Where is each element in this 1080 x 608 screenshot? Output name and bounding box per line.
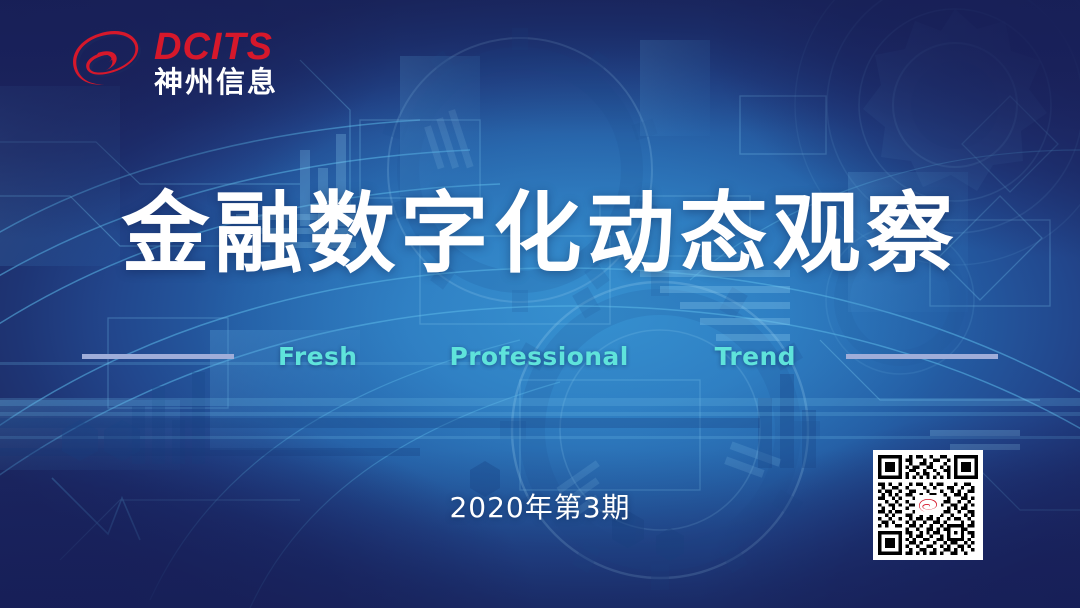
keyword-fresh: Fresh	[278, 342, 357, 371]
dcits-swirl-icon	[72, 28, 146, 98]
keyword-trend: Trend	[715, 342, 796, 371]
logo-chinese-text: 神州信息	[154, 69, 278, 98]
keyword-rule-right	[846, 354, 998, 359]
keyword-professional: Professional	[449, 342, 628, 371]
qr-code-canvas	[878, 455, 978, 555]
keyword-rule-left	[82, 354, 234, 359]
page-title: 金融数字化动态观察	[0, 190, 1080, 278]
qr-center-logo	[915, 495, 941, 515]
qr-code[interactable]	[873, 450, 983, 560]
presentation-cover-slide: DCITS 神州信息 金融数字化动态观察 Fresh Professional …	[0, 0, 1080, 608]
keyword-row: Fresh Professional Trend	[0, 339, 1080, 373]
dcits-logo: DCITS 神州信息	[72, 28, 278, 98]
dcits-swirl-icon	[918, 498, 938, 512]
logo-english-text: DCITS	[154, 28, 278, 66]
